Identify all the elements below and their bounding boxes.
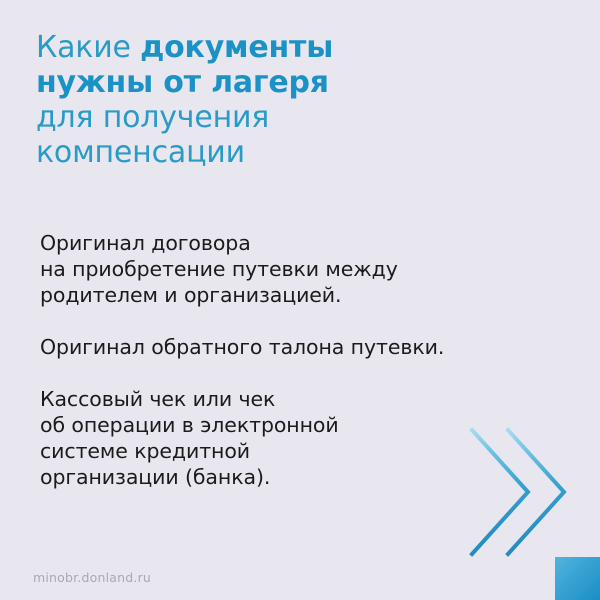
paragraph-line: Оригинал обратного талона путевки. [40,334,560,360]
paragraph-line: родителем и организацией. [40,282,560,308]
paragraph-line: на приобретение путевки между [40,256,560,282]
paragraph-line: Оригинал договора [40,230,560,256]
paragraph-line: Кассовый чек или чек [40,386,560,412]
title-line-3-regular: для получения [36,100,269,135]
title-line-3: для получения [36,100,581,135]
corner-accent-square [555,557,600,600]
list-item: Оригинал договора на приобретение путевк… [40,230,560,308]
title-line-1-bold: документы [140,30,333,65]
list-item: Оригинал обратного талона путевки. [40,334,560,360]
paragraph-line: организации (банка). [40,464,560,490]
title-line-4: компенсации [36,135,581,170]
paragraph-line: об операции в электронной [40,412,560,438]
paragraph-line: системе кредитной [40,438,560,464]
title-line-1-regular: Какие [36,30,140,65]
title-line-2: нужны от лагеря [36,65,581,100]
list-item: Кассовый чек или чек об операции в элект… [40,386,560,490]
title-line-4-regular: компенсации [36,135,245,170]
footer-site-url: minobr.donland.ru [33,570,151,585]
poster-canvas: Какие документы нужны от лагеря для полу… [0,0,600,600]
page-title: Какие документы нужны от лагеря для полу… [36,30,581,170]
title-line-1: Какие документы [36,30,581,65]
title-line-2-bold: нужны от лагеря [36,65,329,100]
document-list: Оригинал договора на приобретение путевк… [40,230,560,490]
